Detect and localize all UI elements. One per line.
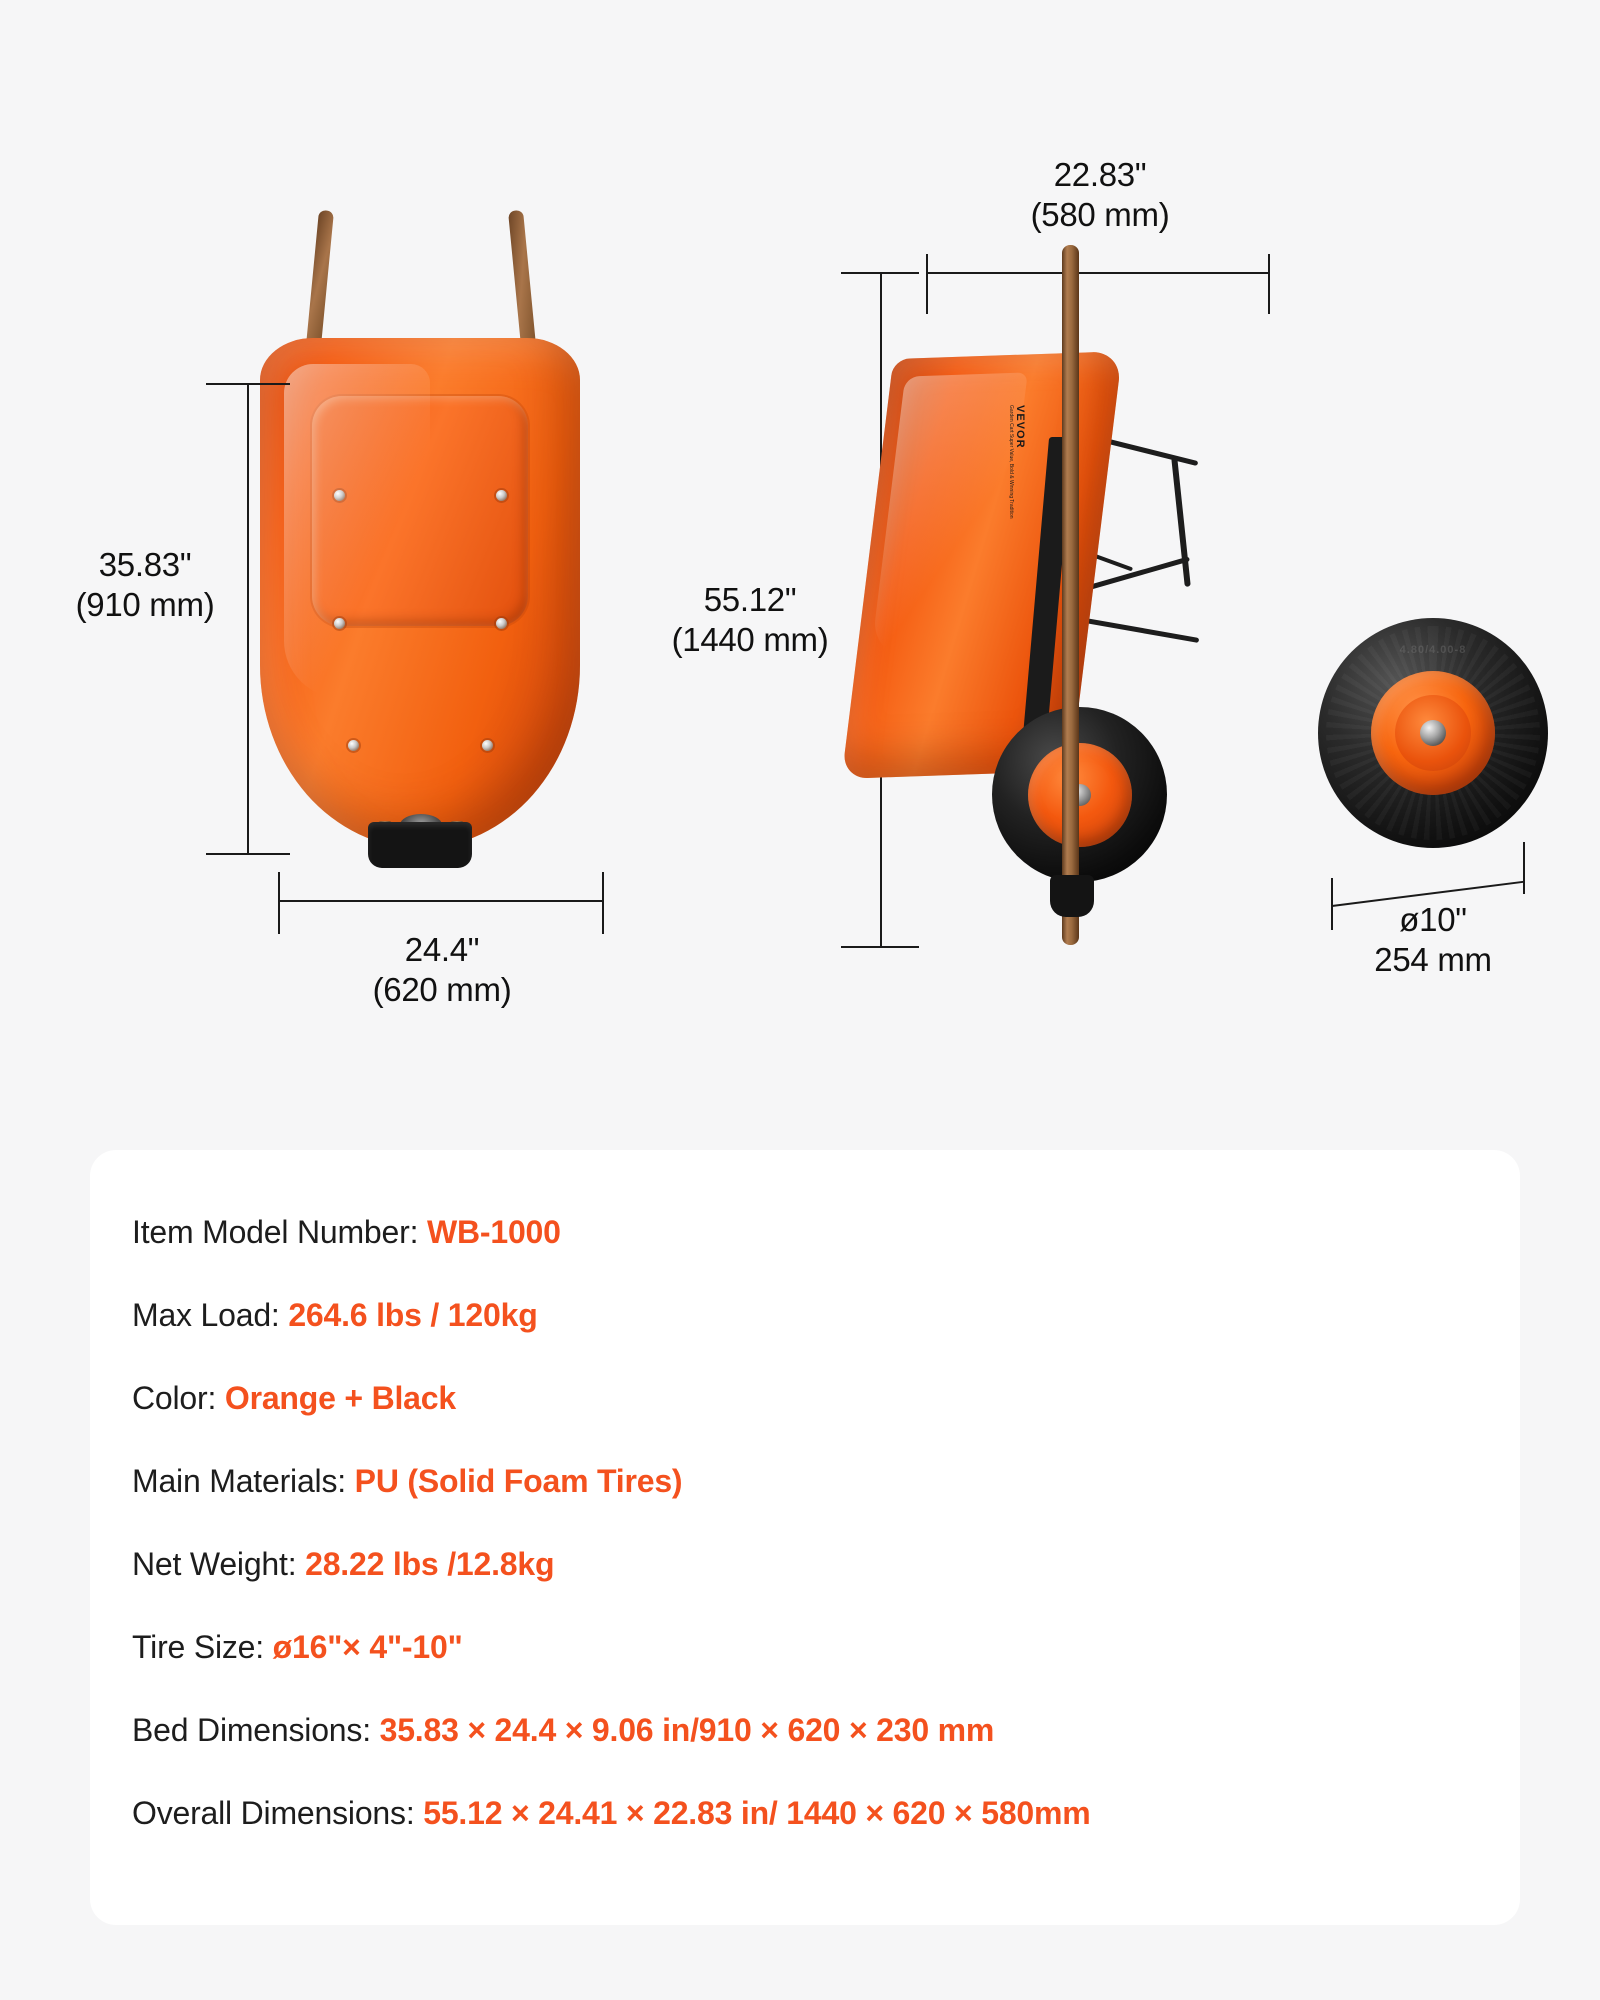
tray-top-view (260, 338, 580, 848)
dim-tick-left (926, 254, 928, 314)
dim-tick-bottom (841, 946, 919, 948)
spec-row-overall-dimensions: Overall Dimensions: 55.12 × 24.41 × 22.8… (132, 1793, 1520, 1833)
dim-label-overall-width: 22.83" (580 mm) (930, 155, 1270, 236)
spec-value: WB-1000 (427, 1214, 561, 1250)
spec-value: 28.22 lbs /12.8kg (305, 1546, 554, 1582)
spec-value: 35.83 × 24.4 × 9.06 in/910 × 620 × 230 m… (380, 1712, 995, 1748)
spec-label: Main Materials: (132, 1463, 346, 1499)
wheelbarrow-side-view-image: VEVOR Garden Cart Super Value, Bold & Wi… (900, 245, 1220, 965)
product-spec-page: 35.83" (910 mm) 24.4" (620 mm) VEVOR Gar… (0, 0, 1600, 2000)
rivet-icon (496, 490, 507, 501)
dim-tick-bottom (206, 853, 290, 855)
dim-line-overall-width (926, 272, 1270, 274)
product-dimension-diagram: 35.83" (910 mm) 24.4" (620 mm) VEVOR Gar… (0, 0, 1600, 1130)
dim-label-wheel-diameter: ø10" 254 mm (1328, 900, 1538, 981)
spec-label: Bed Dimensions: (132, 1712, 371, 1748)
rivet-icon (348, 740, 359, 751)
dim-tick-right (1268, 254, 1270, 314)
spec-row-max-load: Max Load: 264.6 lbs / 120kg (132, 1295, 1520, 1335)
spec-value: Orange + Black (225, 1380, 456, 1416)
handle-side-view (1062, 245, 1079, 945)
spec-value: PU (Solid Foam Tires) (355, 1463, 683, 1499)
spec-value: 264.6 lbs / 120kg (288, 1297, 537, 1333)
wheel-detail-image: 4.80/4.00-8 (1318, 618, 1548, 848)
spec-label: Overall Dimensions: (132, 1795, 415, 1831)
spec-label: Color: (132, 1380, 216, 1416)
rivet-icon (482, 740, 493, 751)
foot-stand-side-view (1050, 875, 1094, 917)
spec-row-item-model-number: Item Model Number: WB-1000 (132, 1212, 1520, 1252)
dim-label-bed-length: 35.83" (910 mm) (55, 545, 235, 626)
spec-label: Tire Size: (132, 1629, 264, 1665)
rivet-icon (334, 490, 345, 501)
wheel-axle (1420, 720, 1446, 746)
specifications-card: Item Model Number: WB-1000 Max Load: 264… (90, 1150, 1520, 1925)
spec-row-main-materials: Main Materials: PU (Solid Foam Tires) (132, 1461, 1520, 1501)
dim-tick-right (1523, 842, 1525, 894)
dim-line-bed-length (247, 383, 249, 855)
wheelbarrow-top-view-image (250, 210, 590, 910)
foot-stand-top-view (368, 822, 472, 868)
dim-label-overall-length: 55.12" (1440 mm) (640, 580, 860, 661)
spec-row-tire-size: Tire Size: ø16"× 4"-10" (132, 1627, 1520, 1667)
spec-label: Item Model Number: (132, 1214, 418, 1250)
tray-inner-panel (312, 396, 528, 626)
dim-tick-right (602, 872, 604, 934)
spec-row-net-weight: Net Weight: 28.22 lbs /12.8kg (132, 1544, 1520, 1584)
rivet-icon (334, 618, 345, 629)
spec-label: Net Weight: (132, 1546, 296, 1582)
spec-row-bed-dimensions: Bed Dimensions: 35.83 × 24.4 × 9.06 in/9… (132, 1710, 1520, 1750)
spec-label: Max Load: (132, 1297, 280, 1333)
wheel-side-view (992, 707, 1167, 882)
dim-line-bed-width (278, 900, 604, 902)
spec-row-color: Color: Orange + Black (132, 1378, 1520, 1418)
tire-sidewall-text: 4.80/4.00-8 (1400, 644, 1467, 656)
dim-label-bed-width: 24.4" (620 mm) (262, 930, 622, 1011)
rivet-icon (496, 618, 507, 629)
frame-bar-right (1171, 457, 1191, 587)
brand-logo-label: VEVOR Garden Cart Super Value, Bold & Wi… (1008, 405, 1026, 519)
dim-tick-left (278, 872, 280, 934)
spec-value: 55.12 × 24.41 × 22.83 in/ 1440 × 620 × 5… (423, 1795, 1090, 1831)
spec-value: ø16"× 4"-10" (273, 1629, 463, 1665)
